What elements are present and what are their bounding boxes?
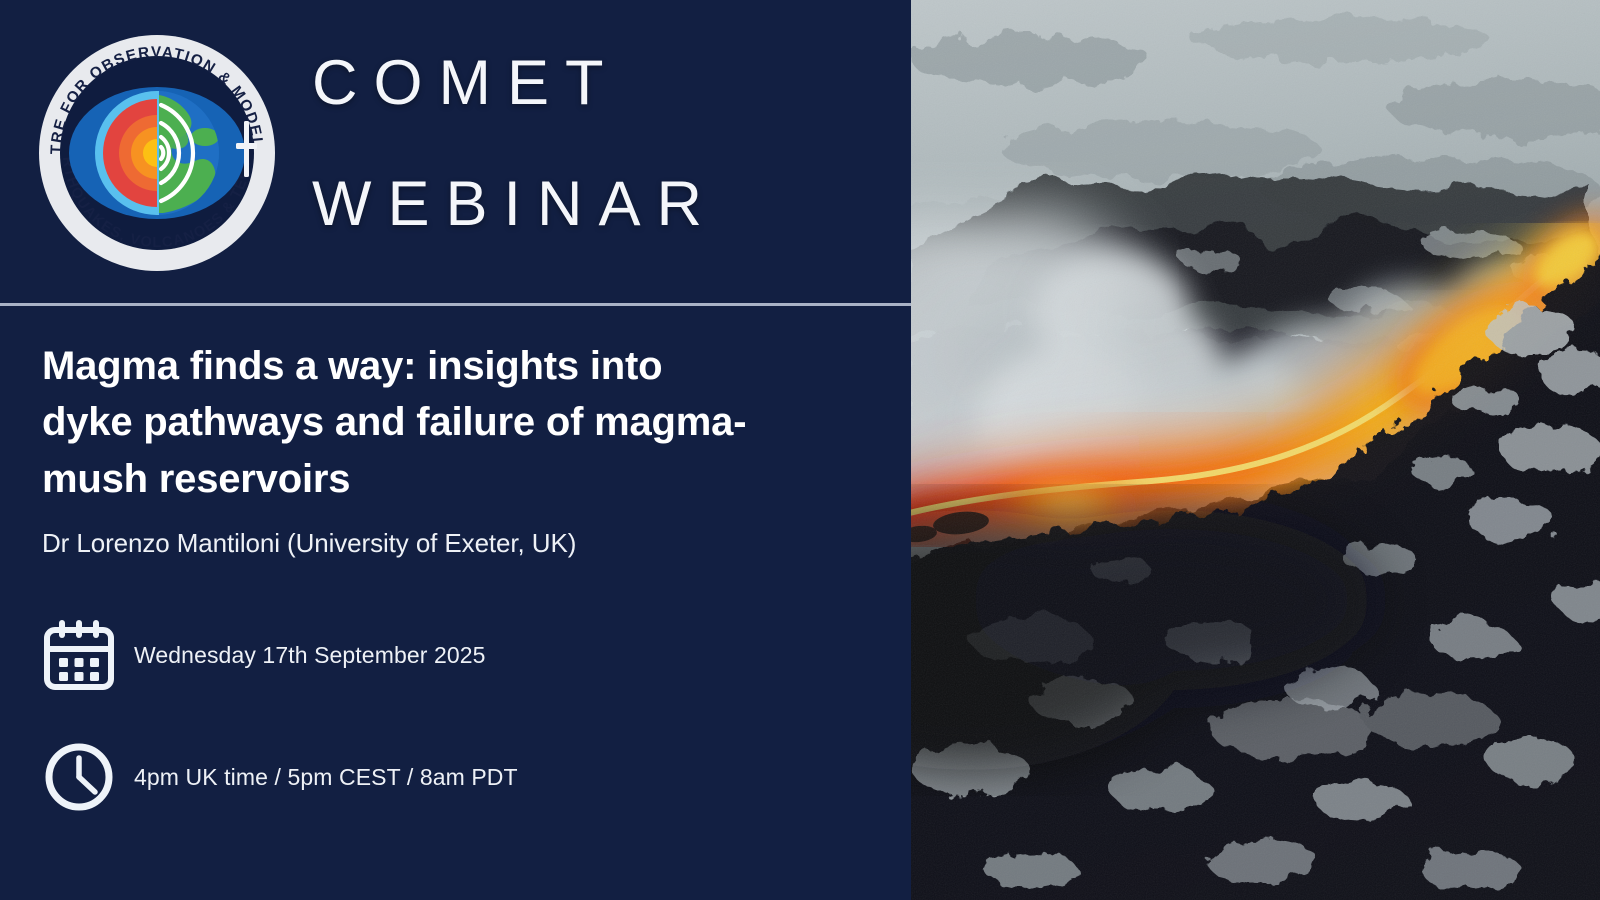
brand-line-webinar: WEBINAR <box>312 173 892 236</box>
brand-wordmark: COMET WEBINAR <box>312 52 892 236</box>
date-row: Wednesday 17th September 2025 <box>42 618 486 692</box>
speaker-name: Dr Lorenzo Mantiloni (University of Exet… <box>42 528 576 559</box>
date-label: Wednesday 17th September 2025 <box>134 642 486 669</box>
header-divider <box>0 303 911 306</box>
time-label: 4pm UK time / 5pm CEST / 8am PDT <box>134 764 518 791</box>
header: CENTRE FOR OBSERVATION & MODELLING OF EA… <box>0 0 911 305</box>
brand-line-comet: COMET <box>312 52 892 115</box>
comet-logo-artwork: CENTRE FOR OBSERVATION & MODELLING OF EA… <box>37 33 277 273</box>
webinar-poster: CENTRE FOR OBSERVATION & MODELLING OF EA… <box>0 0 1600 900</box>
content-panel: CENTRE FOR OBSERVATION & MODELLING OF EA… <box>0 0 911 900</box>
clock-icon <box>42 740 116 814</box>
talk-title: Magma finds a way: insights into dyke pa… <box>42 338 752 507</box>
volcano-photo-artwork <box>911 0 1600 900</box>
time-row: 4pm UK time / 5pm CEST / 8am PDT <box>42 740 518 814</box>
volcano-photo <box>911 0 1600 900</box>
calendar-icon <box>42 618 116 692</box>
comet-logo: CENTRE FOR OBSERVATION & MODELLING OF EA… <box>37 33 277 273</box>
